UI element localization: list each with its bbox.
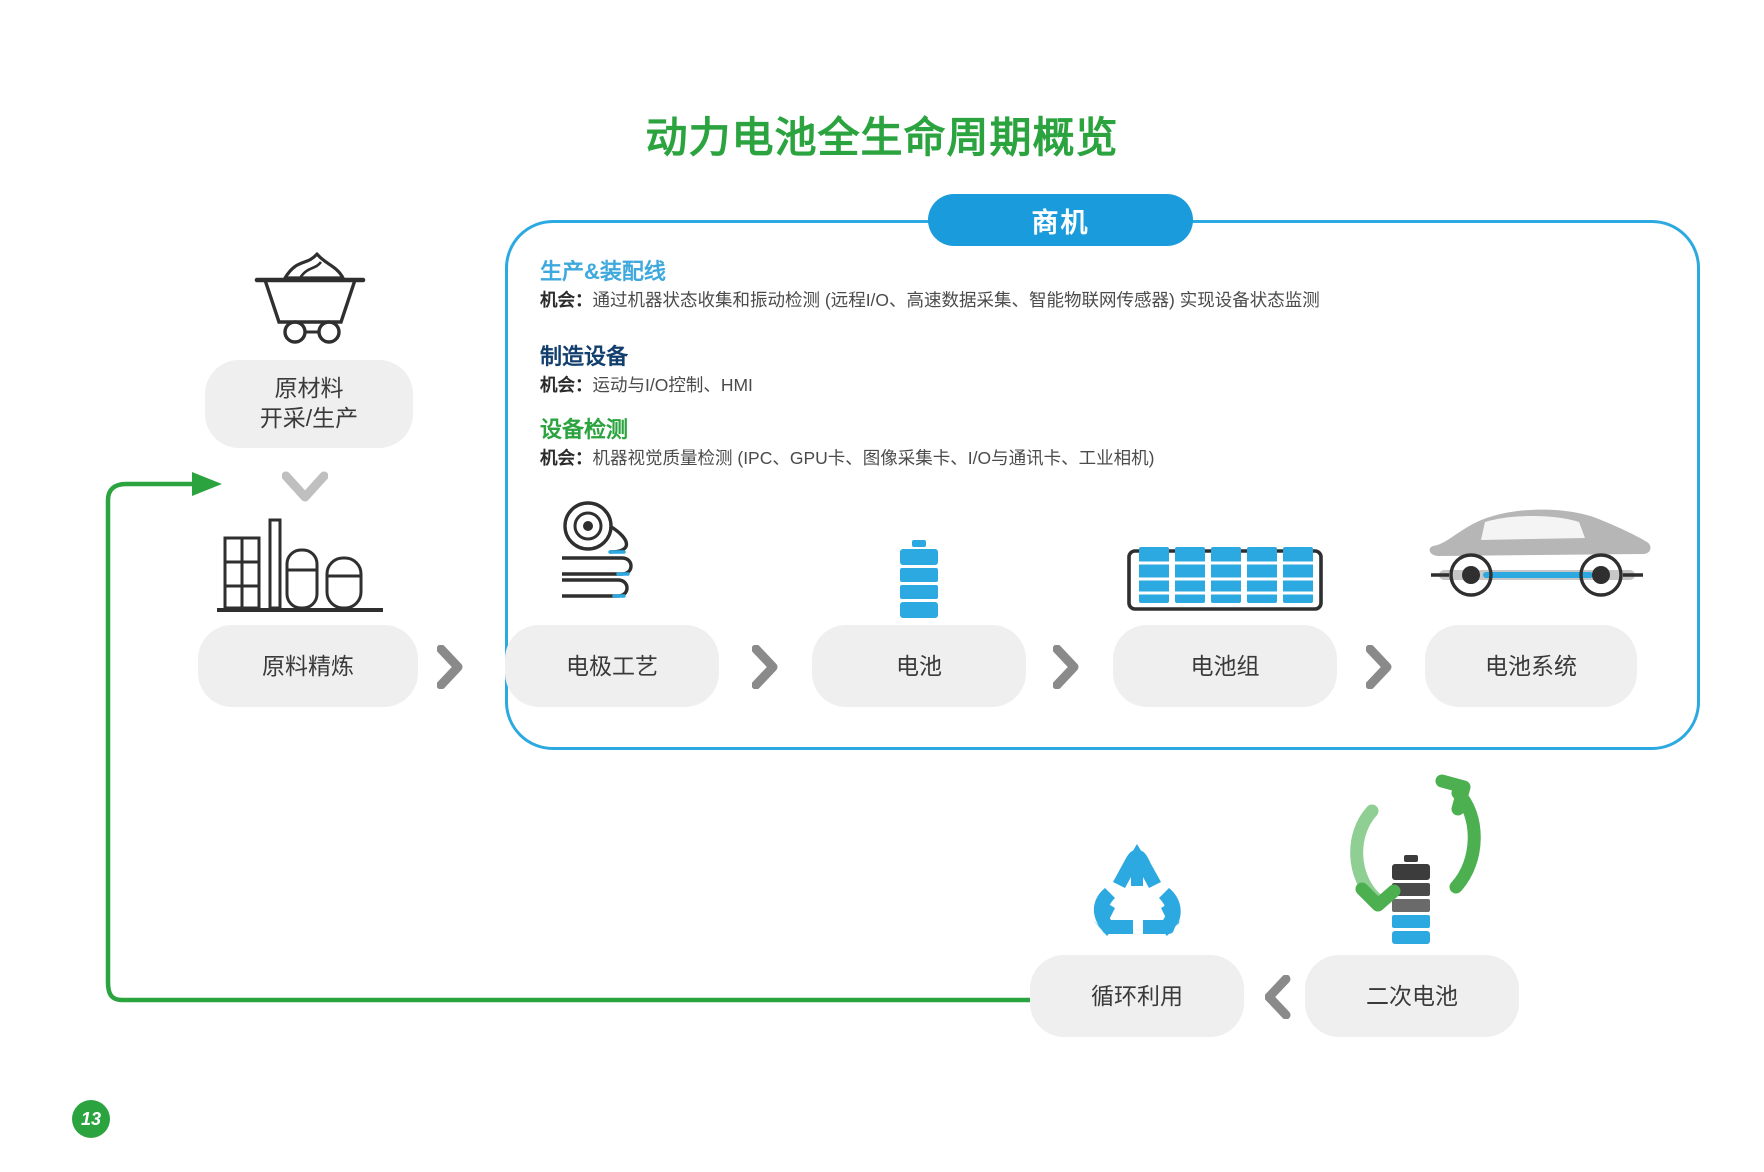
slide-root: 动力电池全生命周期概览 商机 生产&装配线 机会：通过机器状态收集和振动检测 (… [0, 0, 1764, 1172]
stage-label-refining: 原料精炼 [262, 652, 354, 681]
stage-pill-recycling[interactable]: 循环利用 [1030, 955, 1244, 1037]
recycle-icon [1085, 840, 1190, 940]
opportunity-badge: 商机 [928, 194, 1193, 246]
opportunity-body: 机会：机器视觉质量检测 (IPC、GPU卡、图像采集卡、I/O与通讯卡、工业相机… [540, 448, 1154, 469]
chevron-right-icon [1366, 645, 1392, 689]
stage-pill-raw-material[interactable]: 原材料 开采/生产 [205, 360, 413, 448]
opportunity-text: 运动与I/O控制、HMI [593, 375, 753, 395]
opportunity-body: 机会：通过机器状态收集和振动检测 (远程I/O、高速数据采集、智能物联网传感器)… [540, 290, 1320, 311]
stage-label-pack: 电池组 [1191, 652, 1260, 681]
opportunity-block-inspection: 设备检测 机会：机器视觉质量检测 (IPC、GPU卡、图像采集卡、I/O与通讯卡… [540, 418, 1154, 469]
page-title: 动力电池全生命周期概览 [0, 104, 1764, 165]
opportunity-body: 机会：运动与I/O控制、HMI [540, 375, 753, 396]
stage-pill-refining[interactable]: 原料精炼 [198, 625, 418, 707]
stage-label-system: 电池系统 [1485, 652, 1577, 681]
stage-label-cell: 电池 [896, 652, 942, 681]
stage-pill-second-life[interactable]: 二次电池 [1305, 955, 1519, 1037]
stage-label-second-life: 二次电池 [1366, 982, 1458, 1011]
opportunity-heading: 制造设备 [540, 345, 753, 369]
opportunity-text: 通过机器状态收集和振动检测 (远程I/O、高速数据采集、智能物联网传感器) 实现… [593, 290, 1320, 310]
stage-label-line1: 原材料 [260, 374, 358, 404]
opportunity-heading: 生产&装配线 [540, 260, 1320, 284]
opportunity-label: 机会： [540, 448, 593, 468]
page-number-text: 13 [81, 1109, 101, 1130]
electric-car-icon [1415, 500, 1655, 610]
stage-label-electrode: 电极工艺 [566, 652, 658, 681]
opportunity-block-production: 生产&装配线 机会：通过机器状态收集和振动检测 (远程I/O、高速数据采集、智能… [540, 260, 1320, 311]
opportunity-block-equipment: 制造设备 机会：运动与I/O控制、HMI [540, 345, 753, 396]
opportunity-heading: 设备检测 [540, 418, 1154, 442]
mining-cart-icon [245, 240, 375, 345]
stage-pill-cell[interactable]: 电池 [812, 625, 1026, 707]
circular-arrows-icon [1330, 765, 1500, 940]
stage-label-raw-material: 原材料 开采/生产 [260, 374, 358, 434]
chevron-left-icon [1265, 975, 1291, 1019]
battery-pack-icon [1125, 545, 1325, 615]
opportunity-label: 机会： [540, 290, 593, 310]
stage-label-recycling: 循环利用 [1091, 982, 1183, 1011]
stage-pill-pack[interactable]: 电池组 [1113, 625, 1337, 707]
page-number-badge: 13 [72, 1100, 110, 1138]
stage-label-line2: 开采/生产 [260, 404, 358, 434]
stage-pill-system[interactable]: 电池系统 [1425, 625, 1637, 707]
opportunity-badge-label: 商机 [1032, 201, 1090, 240]
opportunity-label: 机会： [540, 375, 593, 395]
recycling-loop-arrow [100, 470, 1100, 1010]
opportunity-text: 机器视觉质量检测 (IPC、GPU卡、图像采集卡、I/O与通讯卡、工业相机) [593, 448, 1155, 468]
stage-pill-electrode[interactable]: 电极工艺 [505, 625, 719, 707]
